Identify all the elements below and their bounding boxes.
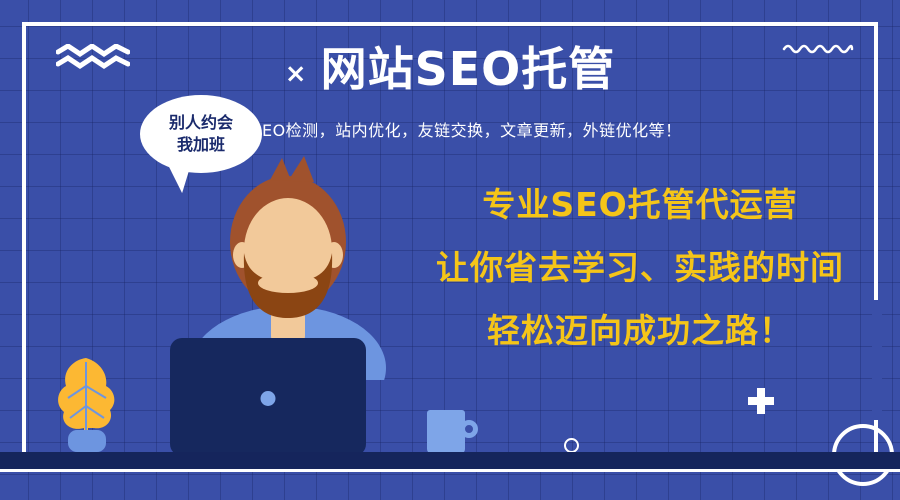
character-hair-tuft (270, 156, 314, 182)
character-mouth (258, 273, 318, 293)
plant-pot (68, 430, 106, 452)
slogan-line-3: 轻松迈向成功之路！ (400, 314, 880, 347)
laptop-logo-icon (261, 391, 276, 406)
character-ear-left (233, 242, 251, 268)
slogan-list: 专业SEO托管代运营 让你省去学习、实践的时间 轻松迈向成功之路！ (400, 188, 880, 347)
slogan-line-2: 让你省去学习、实践的时间 (400, 251, 880, 284)
banner-title-row: × 网站SEO托管 (0, 44, 900, 95)
speech-bubble-line-2: 我加班 (177, 134, 225, 156)
banner-subtitle: 含：SEO检测，站内优化，友链交换，文章更新，外链优化等！ (0, 117, 900, 141)
desk-edge-line (0, 469, 900, 472)
circle-outline-icon (564, 438, 579, 453)
coffee-mug (427, 410, 465, 454)
laptop (170, 338, 366, 456)
mug-handle (460, 420, 478, 438)
character-ear-right (325, 242, 343, 268)
slogan-line-1: 专业SEO托管代运营 (400, 188, 880, 221)
speech-bubble: 别人约会 我加班 (140, 95, 262, 173)
title-marker-icon: × (285, 61, 307, 87)
speech-bubble-line-1: 别人约会 (169, 112, 233, 134)
plant-decoration (48, 352, 124, 456)
page-title: 网站SEO托管 (321, 44, 616, 95)
seo-banner: × 网站SEO托管 含：SEO检测，站内优化，友链交换，文章更新，外链优化等！ … (0, 0, 900, 500)
plus-icon (748, 388, 774, 414)
